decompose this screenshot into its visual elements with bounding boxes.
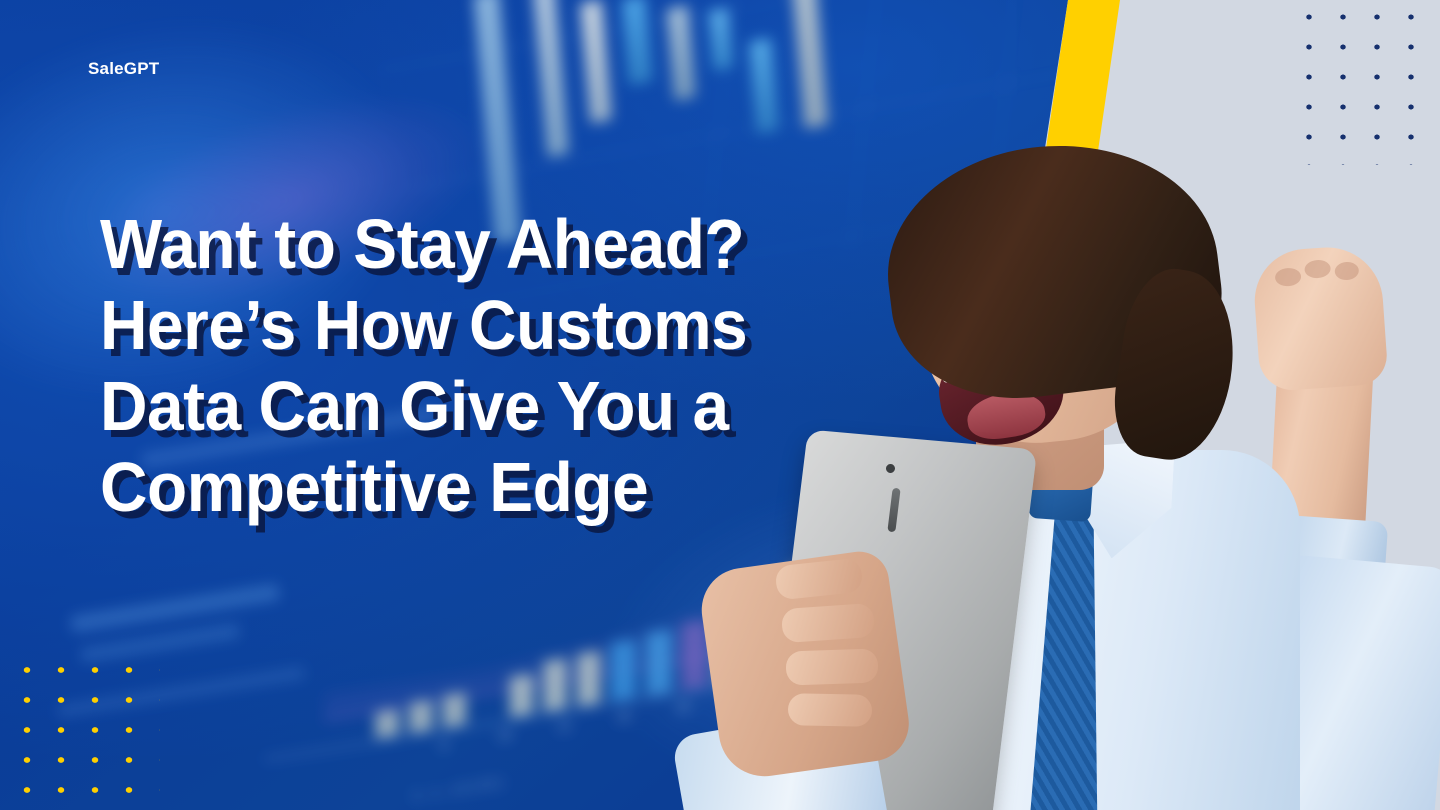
chart-tick-label: 18 bbox=[676, 698, 690, 715]
knuckle bbox=[1274, 267, 1301, 287]
chart-bar bbox=[375, 709, 399, 739]
chart-tick-label: 10 bbox=[498, 726, 512, 743]
yellow-dot-grid-decor bbox=[10, 652, 160, 810]
chart-bar bbox=[510, 673, 534, 717]
chart-tick-label: 12 bbox=[557, 717, 571, 734]
candle-bar bbox=[533, 0, 569, 158]
candle-bar bbox=[622, 0, 653, 86]
chart-bar bbox=[409, 699, 433, 733]
finger bbox=[785, 648, 878, 685]
finger bbox=[781, 603, 875, 643]
chart-bar bbox=[442, 692, 466, 728]
candle-bar bbox=[580, 0, 612, 124]
chart-tick-label: 16 bbox=[616, 707, 630, 724]
candle-bar bbox=[784, 0, 828, 129]
headline-line-1: Want to Stay Ahead? bbox=[100, 204, 946, 285]
candle-bar bbox=[708, 7, 733, 71]
chart-annotation-label: C.1.12135) bbox=[413, 775, 506, 806]
finger bbox=[788, 693, 873, 726]
knuckle bbox=[1334, 261, 1359, 281]
chart-bar bbox=[646, 629, 672, 696]
ui-block bbox=[70, 584, 280, 633]
brand-logo[interactable]: SaleGPT bbox=[88, 59, 159, 79]
candle-bar bbox=[666, 5, 696, 101]
headline-line-2: Here’s How Customs bbox=[100, 285, 946, 366]
chart-bar bbox=[610, 639, 636, 702]
promo-banner: 8 10 12 16 18 20 24 28 C.1.12135) bbox=[0, 0, 1440, 810]
chart-bar bbox=[543, 658, 567, 712]
chart-bar bbox=[577, 650, 601, 706]
raised-fist bbox=[1251, 244, 1388, 393]
chart-tick-label: 8 bbox=[440, 736, 447, 752]
knuckle bbox=[1304, 259, 1331, 279]
